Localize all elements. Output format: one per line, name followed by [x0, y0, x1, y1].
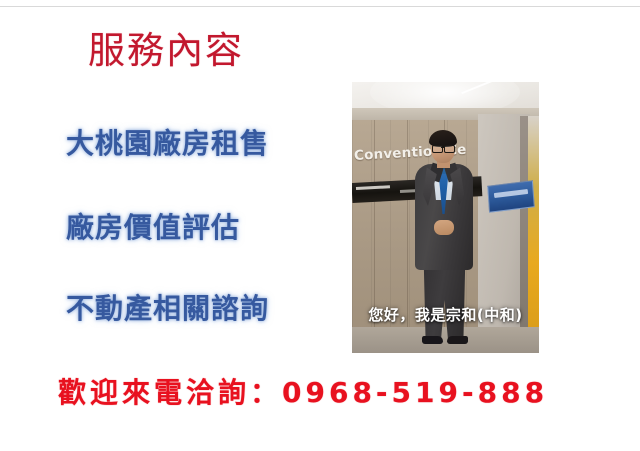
top-divider-rule [0, 6, 640, 7]
photo-person-shoe-left [422, 336, 443, 344]
presentation-slide: 服務內容 大桃園廠房租售 廠房價值評估 不動產相關諮詢 歡迎來電洽詢：0968-… [0, 0, 640, 451]
service-item-2: 廠房價值評估 [66, 213, 240, 242]
photo-caption: 您好，我是宗和(中和) [352, 304, 539, 325]
agent-photo: Convention Ce 您好，我是宗和(中和) [352, 82, 539, 353]
page-title: 服務內容 [88, 32, 244, 71]
contact-phone-line: 歡迎來電洽詢：0968-519-888 [58, 371, 548, 411]
photo-person-shoe-right [447, 336, 468, 344]
service-item-3: 不動產相關諮詢 [66, 294, 269, 323]
photo-person-glasses-bridge [441, 147, 444, 148]
photo-floor [352, 327, 539, 353]
service-item-1: 大桃園廠房租售 [66, 129, 269, 158]
photo-person-glasses-right-lens [444, 145, 455, 153]
photo-person-hands [434, 220, 454, 235]
